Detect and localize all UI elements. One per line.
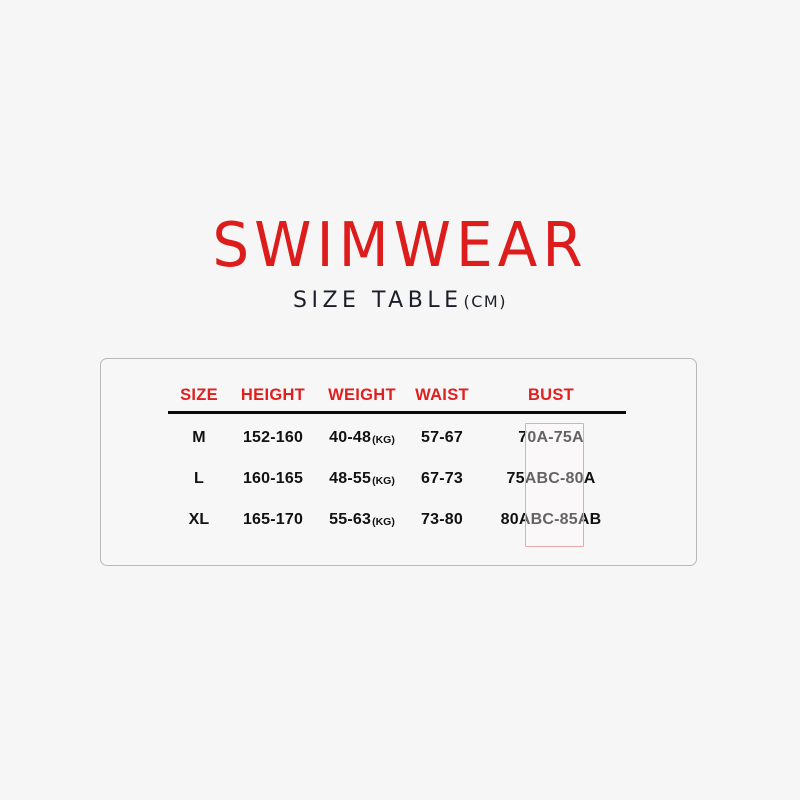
- title-block: SWIMWEAR SIZE TABLE (CM): [0, 214, 800, 313]
- size-table-card: SIZE HEIGHT WEIGHT WAIST BUST M 152-160 …: [100, 358, 697, 566]
- subtitle-row: SIZE TABLE (CM): [0, 288, 800, 313]
- cell-size: XL: [168, 499, 230, 540]
- cell-waist: 73-80: [408, 499, 476, 540]
- header-row: SIZE HEIGHT WEIGHT WAIST BUST: [168, 382, 626, 408]
- weight-value: 40-48: [329, 429, 371, 446]
- cell-bust: 70A-75A: [476, 417, 626, 458]
- cell-height: 165-170: [230, 499, 316, 540]
- table-body: M 152-160 40-48(KG) 57-67 70A-75A L 160-…: [168, 417, 626, 540]
- cell-weight: 48-55(KG): [316, 458, 408, 499]
- cell-weight: 40-48(KG): [316, 417, 408, 458]
- subtitle-text: SIZE TABLE: [293, 288, 462, 313]
- weight-unit: (KG): [372, 434, 395, 446]
- column-header-size: SIZE: [168, 382, 230, 408]
- brand-title: SWIMWEAR: [0, 212, 800, 278]
- weight-unit: (KG): [372, 516, 395, 528]
- cell-height: 160-165: [230, 458, 316, 499]
- weight-unit: (KG): [372, 475, 395, 487]
- table-row: M 152-160 40-48(KG) 57-67 70A-75A: [168, 417, 626, 458]
- column-header-waist: WAIST: [408, 382, 476, 408]
- cell-size: M: [168, 417, 230, 458]
- cell-bust: 80ABC-85AB: [476, 499, 626, 540]
- cell-weight: 55-63(KG): [316, 499, 408, 540]
- column-header-bust: BUST: [476, 382, 626, 408]
- cell-height: 152-160: [230, 417, 316, 458]
- table-row: XL 165-170 55-63(KG) 73-80 80ABC-85AB: [168, 499, 626, 540]
- column-header-height: HEIGHT: [230, 382, 316, 408]
- size-table: SIZE HEIGHT WEIGHT WAIST BUST M 152-160 …: [168, 382, 626, 540]
- table-row: L 160-165 48-55(KG) 67-73 75ABC-80A: [168, 458, 626, 499]
- weight-value: 55-63: [329, 511, 371, 528]
- cell-waist: 57-67: [408, 417, 476, 458]
- weight-value: 48-55: [329, 470, 371, 487]
- column-header-weight: WEIGHT: [316, 382, 408, 408]
- size-chart-page: SWIMWEAR SIZE TABLE (CM) SIZE HEIGHT WEI…: [0, 0, 800, 800]
- cell-bust: 75ABC-80A: [476, 458, 626, 499]
- header-divider: [168, 411, 626, 414]
- cell-waist: 67-73: [408, 458, 476, 499]
- table-header: SIZE HEIGHT WEIGHT WAIST BUST: [168, 382, 626, 417]
- header-rule-cell: [168, 408, 626, 417]
- cell-size: L: [168, 458, 230, 499]
- header-rule-row: [168, 408, 626, 417]
- subtitle-unit: (CM): [463, 292, 506, 311]
